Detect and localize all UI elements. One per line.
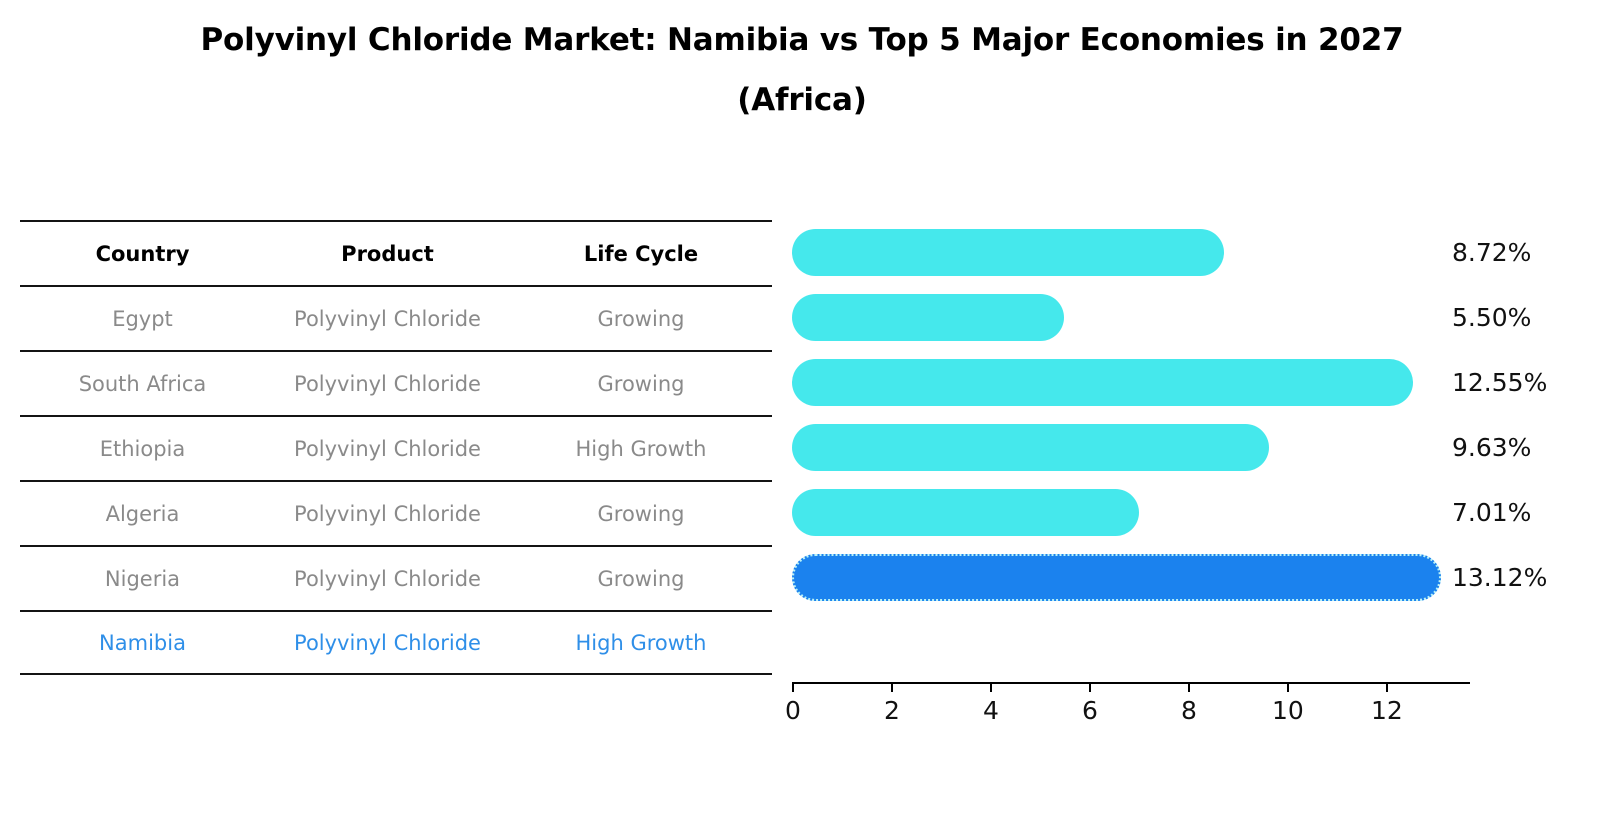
table-row: AlgeriaPolyvinyl ChlorideGrowing [20, 480, 772, 545]
bar-row: 12.55% [792, 350, 1492, 415]
table-row: NigeriaPolyvinyl ChlorideGrowing [20, 545, 772, 610]
x-axis-tick-label: 12 [1371, 696, 1403, 725]
x-axis-tick [1089, 684, 1091, 692]
bar [792, 359, 1413, 406]
bar-value-label: 8.72% [1452, 220, 1531, 285]
table-row: NamibiaPolyvinyl ChlorideHigh Growth [20, 610, 772, 675]
chart-figure: Polyvinyl Chloride Market: Namibia vs To… [0, 0, 1604, 823]
x-axis-tick [792, 684, 794, 692]
bar [792, 294, 1064, 341]
x-axis-tick [1188, 684, 1190, 692]
cell-life_cycle: Growing [510, 307, 772, 331]
column-header-country: Country [20, 242, 265, 266]
chart-title-line-2: (Africa) [0, 70, 1604, 130]
bar [792, 424, 1269, 471]
cell-life_cycle: Growing [510, 502, 772, 526]
bar-row: 5.50% [792, 285, 1492, 350]
cell-life_cycle: High Growth [510, 437, 772, 461]
cell-product: Polyvinyl Chloride [265, 307, 510, 331]
chart-title-line-1: Polyvinyl Chloride Market: Namibia vs To… [0, 10, 1604, 70]
table-row: EthiopiaPolyvinyl ChlorideHigh Growth [20, 415, 772, 480]
x-axis-tick-label: 6 [1082, 696, 1098, 725]
x-axis-tick-label: 4 [983, 696, 999, 725]
cell-product: Polyvinyl Chloride [265, 631, 510, 655]
cell-life_cycle: High Growth [510, 631, 772, 655]
cell-product: Polyvinyl Chloride [265, 567, 510, 591]
x-axis-line [792, 682, 1470, 684]
bar [792, 489, 1139, 536]
cell-product: Polyvinyl Chloride [265, 502, 510, 526]
bar-value-label: 12.55% [1452, 350, 1547, 415]
column-header-product: Product [265, 242, 510, 266]
bar-value-label: 9.63% [1452, 415, 1531, 480]
cell-country: Nigeria [20, 567, 265, 591]
x-axis: 024681012 [792, 682, 1470, 742]
x-axis-tick-label: 0 [785, 696, 801, 725]
cell-country: Algeria [20, 502, 265, 526]
table-header-row: Country Product Life Cycle [20, 220, 772, 285]
x-axis-tick [1386, 684, 1388, 692]
table-row: South AfricaPolyvinyl ChlorideGrowing [20, 350, 772, 415]
cell-country: Namibia [20, 631, 265, 655]
x-axis-tick [1287, 684, 1289, 692]
bar-row: 13.12% [792, 545, 1492, 610]
bar [792, 229, 1224, 276]
bar-value-label: 5.50% [1452, 285, 1531, 350]
bar-chart-area: 8.72%5.50%12.55%9.63%7.01%13.12% [792, 220, 1492, 680]
cell-life_cycle: Growing [510, 372, 772, 396]
cell-product: Polyvinyl Chloride [265, 372, 510, 396]
table-row: EgyptPolyvinyl ChlorideGrowing [20, 285, 772, 350]
chart-title: Polyvinyl Chloride Market: Namibia vs To… [0, 10, 1604, 130]
x-axis-tick [990, 684, 992, 692]
column-header-life-cycle: Life Cycle [510, 242, 772, 266]
cell-country: Ethiopia [20, 437, 265, 461]
cell-product: Polyvinyl Chloride [265, 437, 510, 461]
bar-row: 8.72% [792, 220, 1492, 285]
x-axis-tick-label: 10 [1272, 696, 1304, 725]
cell-life_cycle: Growing [510, 567, 772, 591]
bar-value-label: 13.12% [1452, 545, 1547, 610]
cell-country: South Africa [20, 372, 265, 396]
bar-highlighted [792, 554, 1441, 601]
table-body: EgyptPolyvinyl ChlorideGrowingSouth Afri… [20, 285, 772, 675]
bar-row: 9.63% [792, 415, 1492, 480]
x-axis-tick-label: 8 [1181, 696, 1197, 725]
bar-value-label: 7.01% [1452, 480, 1531, 545]
x-axis-tick-label: 2 [884, 696, 900, 725]
cell-country: Egypt [20, 307, 265, 331]
comparison-table: Country Product Life Cycle EgyptPolyviny… [20, 220, 772, 675]
x-axis-tick [891, 684, 893, 692]
bar-row: 7.01% [792, 480, 1492, 545]
